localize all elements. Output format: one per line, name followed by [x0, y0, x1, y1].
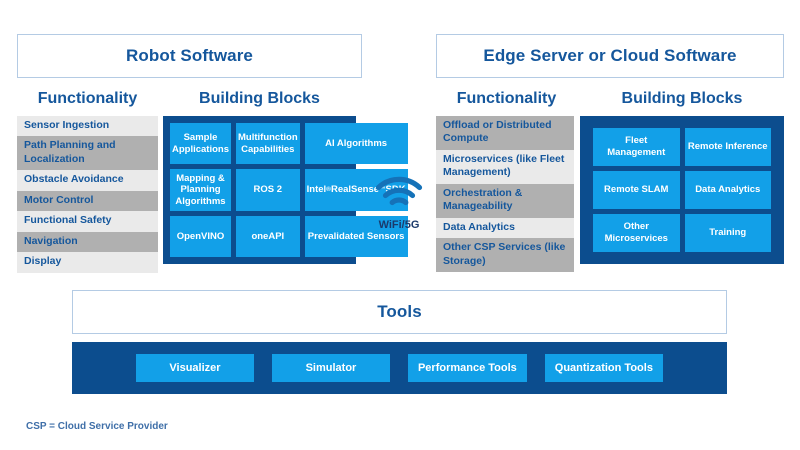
- robot-functionality-caption: Functionality: [17, 90, 158, 108]
- edge-cloud-header: Edge Server or Cloud Software: [436, 34, 784, 78]
- building-block-tile[interactable]: Fleet Management: [593, 128, 680, 166]
- list-item: Obstacle Avoidance: [17, 170, 158, 190]
- building-block-tile[interactable]: Sample Applications: [170, 123, 231, 164]
- building-block-tile[interactable]: OpenVINO: [170, 216, 231, 257]
- list-item: Path Planning and Localization: [17, 136, 158, 170]
- list-item: Motor Control: [17, 191, 158, 211]
- list-item: Navigation: [17, 232, 158, 252]
- list-item: Other CSP Services (like Storage): [436, 238, 574, 272]
- tools-header: Tools: [72, 290, 727, 334]
- building-block-tile[interactable]: AI Algorithms: [305, 123, 408, 164]
- list-item: Orchestration & Manageability: [436, 184, 574, 218]
- building-block-tile[interactable]: Mapping & Planning Algorithms: [170, 169, 231, 210]
- tools-panel: Visualizer Simulator Performance Tools Q…: [72, 342, 727, 394]
- tool-button[interactable]: Quantization Tools: [545, 354, 663, 382]
- wireless-link-group: WiFi/5G: [368, 176, 430, 231]
- robot-software-title: Robot Software: [126, 46, 253, 66]
- wifi-icon: [375, 176, 423, 210]
- edge-functionality-list: Offload or Distributed Compute Microserv…: [436, 116, 574, 272]
- list-item: Microservices (like Fleet Management): [436, 150, 574, 184]
- building-block-tile[interactable]: Remote SLAM: [593, 171, 680, 209]
- building-block-tile[interactable]: Other Microservices: [593, 214, 680, 252]
- tool-button[interactable]: Simulator: [272, 354, 390, 382]
- building-block-tile[interactable]: Multifunction Capabilities: [236, 123, 300, 164]
- edge-building-blocks-panel: Fleet Management Remote Inference Remote…: [580, 116, 784, 264]
- list-item: Data Analytics: [436, 218, 574, 238]
- edge-building-blocks-caption: Building Blocks: [580, 90, 784, 108]
- footnote: CSP = Cloud Service Provider: [26, 421, 168, 432]
- edge-cloud-title: Edge Server or Cloud Software: [483, 46, 736, 66]
- building-block-tile[interactable]: Data Analytics: [685, 171, 772, 209]
- tool-button[interactable]: Visualizer: [136, 354, 254, 382]
- building-block-tile[interactable]: Training: [685, 214, 772, 252]
- building-block-tile[interactable]: ROS 2: [236, 169, 300, 210]
- building-block-tile[interactable]: oneAPI: [236, 216, 300, 257]
- tools-title: Tools: [377, 302, 422, 322]
- robot-software-header: Robot Software: [17, 34, 362, 78]
- wireless-link-label: WiFi/5G: [368, 219, 430, 231]
- list-item: Sensor Ingestion: [17, 116, 158, 136]
- diagram-canvas: Robot Software Functionality Building Bl…: [0, 0, 800, 450]
- list-item: Display: [17, 252, 158, 272]
- list-item: Functional Safety: [17, 211, 158, 231]
- list-item: Offload or Distributed Compute: [436, 116, 574, 150]
- robot-building-blocks-panel: Sample Applications Multifunction Capabi…: [163, 116, 356, 264]
- robot-functionality-list: Sensor Ingestion Path Planning and Local…: [17, 116, 158, 273]
- edge-functionality-caption: Functionality: [436, 90, 577, 108]
- robot-building-blocks-caption: Building Blocks: [163, 90, 356, 108]
- tool-button[interactable]: Performance Tools: [408, 354, 527, 382]
- building-block-tile[interactable]: Remote Inference: [685, 128, 772, 166]
